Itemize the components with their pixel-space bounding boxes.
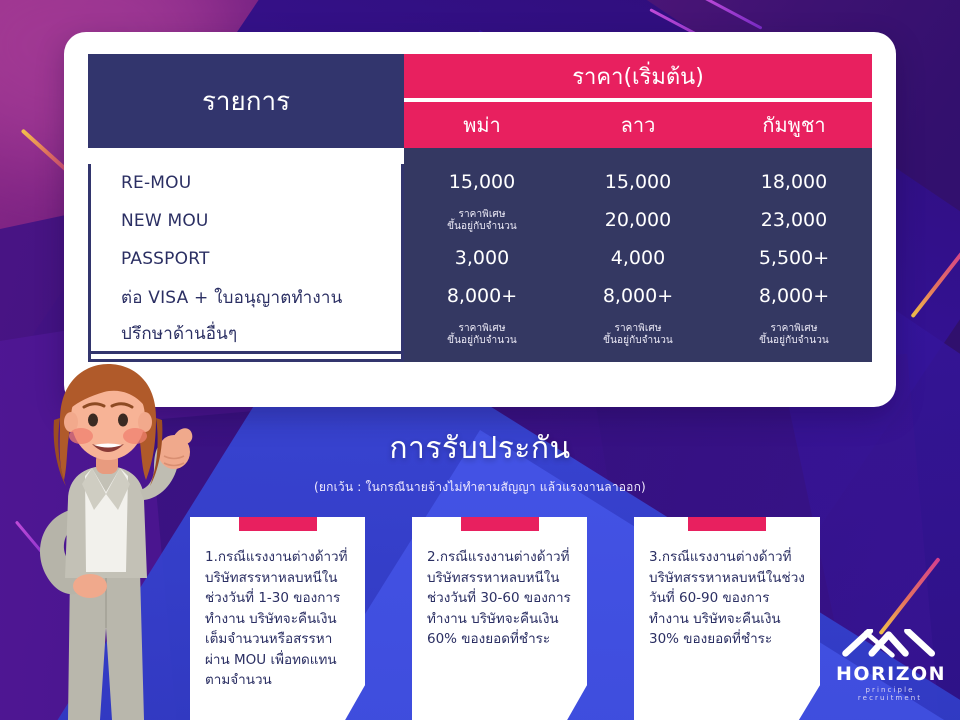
row-label-passport: PASSPORT: [88, 240, 404, 278]
cell-re-mou-myanmar: 15,000: [404, 164, 560, 202]
special-price-note: ราคาพิเศษ: [404, 323, 560, 336]
special-price-note-2: ขึ้นอยู่กับจำนวน: [560, 335, 716, 348]
horizon-mark-icon: [838, 629, 941, 659]
table-spacer-row: [88, 148, 872, 164]
cell-other-myanmar: ราคาพิเศษ ขึ้นอยู่กับจำนวน: [404, 316, 560, 354]
row-label-re-mou: RE-MOU: [88, 164, 404, 202]
cell-other-laos: ราคาพิเศษ ขึ้นอยู่กับจำนวน: [560, 316, 716, 354]
logo-name: HORIZON: [836, 665, 944, 684]
row-label-visa-work-permit: ต่อ VISA + ใบอนุญาตทำงาน: [88, 278, 404, 316]
special-price-note: ราคาพิเศษ: [716, 323, 872, 336]
guarantee-cards: 1.กรณีแรงงานต่างด้าวที่บริษัทสรรหาหลบหนี…: [190, 505, 850, 720]
table-header-country-cambodia: กัมพูชา: [716, 102, 872, 148]
special-price-note-2: ขึ้นอยู่กับจำนวน: [404, 335, 560, 348]
table-row: ปรึกษาด้านอื่นๆ ราคาพิเศษ ขึ้นอยู่กับจำน…: [88, 316, 872, 354]
card-tab-icon: [239, 517, 317, 531]
guarantee-card-1-text: 1.กรณีแรงงานต่างด้าวที่บริษัทสรรหาหลบหนี…: [205, 547, 351, 691]
cell-passport-cambodia: 5,500+: [716, 240, 872, 278]
special-price-note: ราคาพิเศษ: [404, 209, 560, 222]
spacer-left: [88, 148, 404, 164]
cell-visa-myanmar: 8,000+: [404, 278, 560, 316]
table-row: ต่อ VISA + ใบอนุญาตทำงาน 8,000+ 8,000+ 8…: [88, 278, 872, 316]
table-header-country-myanmar: พม่า: [404, 102, 560, 148]
row-label-other-consult: ปรึกษาด้านอื่นๆ: [88, 316, 404, 354]
cell-visa-laos: 8,000+: [560, 278, 716, 316]
spacer-right: [404, 148, 872, 164]
special-price-note-2: ขึ้นอยู่กับจำนวน: [404, 221, 560, 234]
special-price-note-2: ขึ้นอยู่กับจำนวน: [716, 335, 872, 348]
cell-other-cambodia: ราคาพิเศษ ขึ้นอยู่กับจำนวน: [716, 316, 872, 354]
guarantee-card-3: 3.กรณีแรงงานต่างด้าวที่บริษัทสรรหาหลบหนี…: [634, 517, 820, 720]
cell-re-mou-cambodia: 18,000: [716, 164, 872, 202]
cell-new-mou-laos: 20,000: [560, 202, 716, 240]
cell-passport-myanmar: 3,000: [404, 240, 560, 278]
table-header-row: รายการ ราคา(เริ่มต้น): [88, 54, 872, 102]
guarantee-card-3-text: 3.กรณีแรงงานต่างด้าวที่บริษัทสรรหาหลบหนี…: [649, 547, 806, 650]
cell-visa-cambodia: 8,000+: [716, 278, 872, 316]
table-header-price: ราคา(เริ่มต้น): [404, 54, 872, 102]
special-price-note: ราคาพิเศษ: [560, 323, 716, 336]
card-tab-icon: [461, 517, 539, 531]
infographic-canvas: รายการ ราคา(เริ่มต้น) พม่า ลาว กัมพูชา R…: [0, 0, 960, 720]
horizon-logo: HORIZON principle recruitment: [836, 629, 944, 702]
table-row: NEW MOU ราคาพิเศษ ขึ้นอยู่กับจำนวน 20,00…: [88, 202, 872, 240]
cell-new-mou-cambodia: 23,000: [716, 202, 872, 240]
cell-re-mou-laos: 15,000: [560, 164, 716, 202]
guarantee-card-2-text: 2.กรณีแรงงานต่างด้าวที่บริษัทสรรหาหลบหนี…: [427, 547, 573, 650]
table-header-country-laos: ลาว: [560, 102, 716, 148]
table-row: PASSPORT 3,000 4,000 5,500+: [88, 240, 872, 278]
guarantee-card-2: 2.กรณีแรงงานต่างด้าวที่บริษัทสรรหาหลบหนี…: [412, 517, 587, 720]
table-cap-right: [404, 354, 872, 362]
row-label-new-mou: NEW MOU: [88, 202, 404, 240]
table-header-item: รายการ: [88, 54, 404, 148]
price-table-card: รายการ ราคา(เริ่มต้น) พม่า ลาว กัมพูชา R…: [64, 32, 896, 407]
cell-passport-laos: 4,000: [560, 240, 716, 278]
table-row: RE-MOU 15,000 15,000 18,000: [88, 164, 872, 202]
card-tab-icon: [688, 517, 766, 531]
price-table: รายการ ราคา(เริ่มต้น) พม่า ลาว กัมพูชา R…: [88, 54, 872, 362]
cell-new-mou-myanmar: ราคาพิเศษ ขึ้นอยู่กับจำนวน: [404, 202, 560, 240]
woman-illustration: [8, 360, 218, 720]
logo-tagline: principle recruitment: [836, 686, 944, 702]
